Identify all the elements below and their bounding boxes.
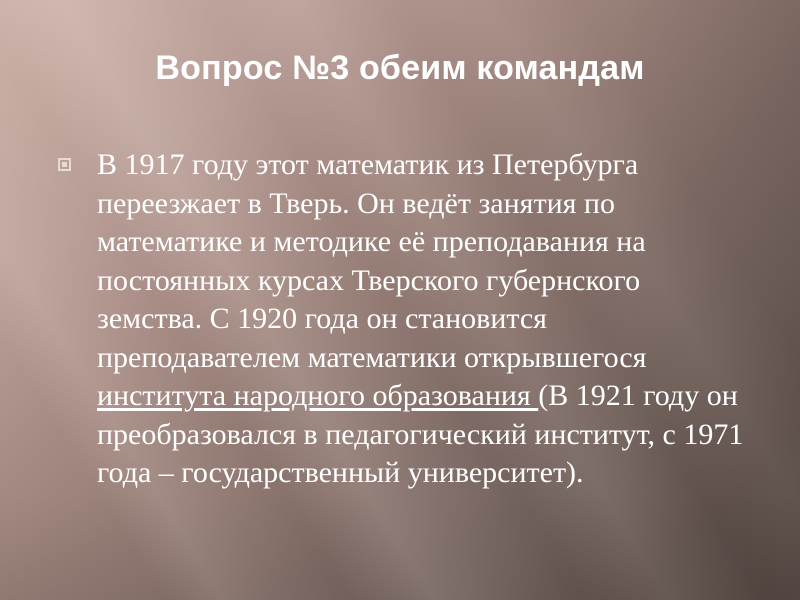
- body-text-underlined: института народного образования: [97, 379, 538, 412]
- square-bullet-icon: [58, 158, 71, 171]
- body-text-part-1: В 1917 году этот математик из Петербурга…: [97, 148, 646, 374]
- presentation-slide: Вопрос №3 обеим командам В 1917 году это…: [0, 0, 800, 600]
- body-paragraph: В 1917 году этот математик из Петербурга…: [97, 146, 748, 493]
- slide-content: Вопрос №3 обеим командам В 1917 году это…: [0, 0, 800, 600]
- page-title: Вопрос №3 обеим командам: [40, 47, 760, 89]
- bulleted-list-item: В 1917 году этот математик из Петербурга…: [58, 146, 748, 493]
